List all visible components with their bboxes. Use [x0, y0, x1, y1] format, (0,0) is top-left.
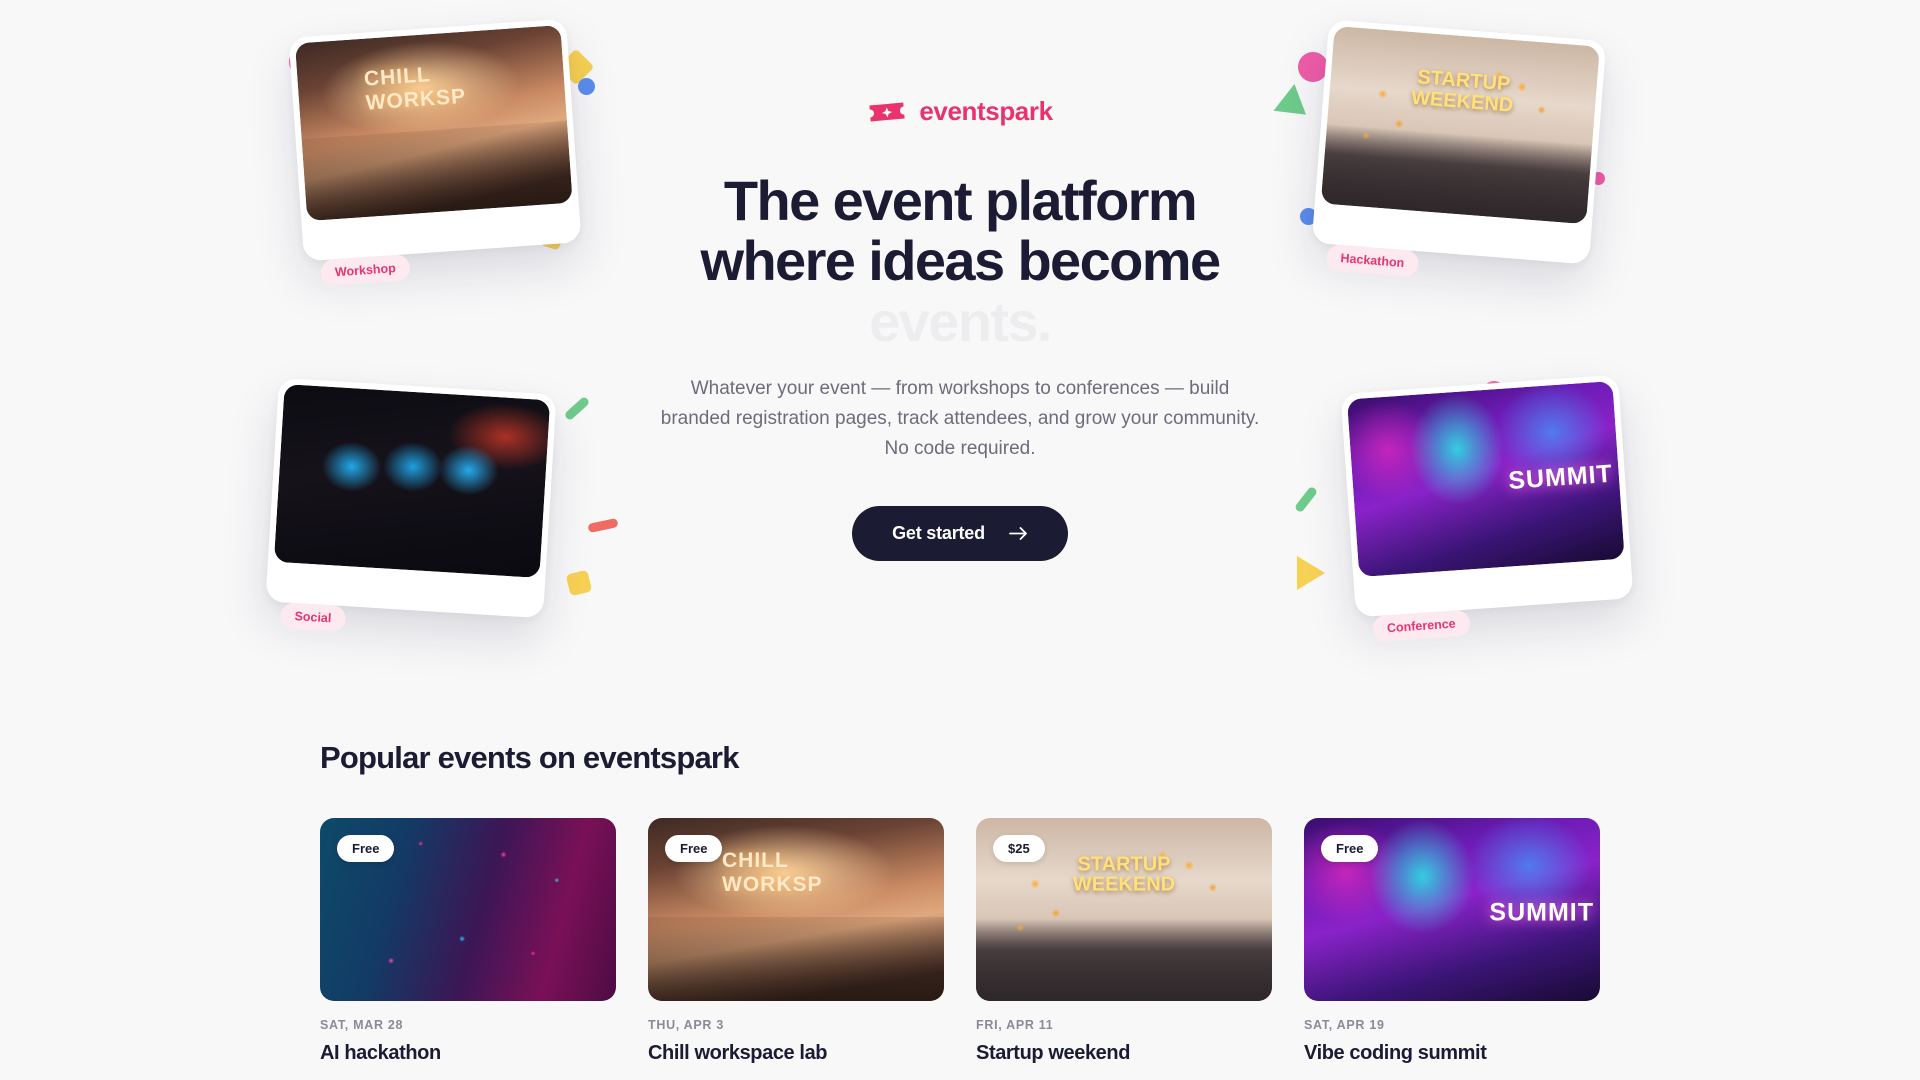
yellow-triangle-right-icon — [1297, 556, 1325, 590]
event-date: SAT, APR 19 — [1304, 1018, 1600, 1032]
page-title: The event platform where ideas become ev… — [650, 171, 1270, 352]
event-price-badge: Free — [665, 835, 722, 862]
event-card-ai-hackathon[interactable]: Free SAT, MAR 28 AI hackathon — [320, 818, 616, 1066]
headline-line-2: where ideas become — [650, 231, 1270, 291]
get-started-button[interactable]: Get started — [852, 506, 1068, 561]
blue-circle-top-left-icon — [578, 78, 595, 95]
event-title: Vibe coding summit — [1304, 1041, 1600, 1066]
green-bar-mid-icon — [564, 396, 591, 421]
brand-logo[interactable]: eventspark — [650, 96, 1270, 127]
event-date: SAT, MAR 28 — [320, 1018, 616, 1032]
floating-card-social-badge: Social — [280, 602, 346, 632]
event-card-image: Free — [648, 818, 944, 1001]
floating-card-social[interactable]: Social — [265, 378, 556, 619]
floating-card-conference-badge: Conference — [1372, 610, 1470, 643]
event-price-badge: Free — [337, 835, 394, 862]
event-card-image: Free — [1304, 818, 1600, 1001]
event-date: THU, APR 3 — [648, 1018, 944, 1032]
event-card-image: Free — [320, 818, 616, 1001]
floating-card-workshop-image — [295, 25, 573, 221]
event-title: Chill workspace lab — [648, 1041, 944, 1066]
arrow-right-icon — [1009, 526, 1028, 541]
popular-events-title: Popular events on eventspark — [320, 740, 1600, 776]
hero-content: eventspark The event platform where idea… — [650, 96, 1270, 561]
floating-card-hackathon-image — [1321, 26, 1600, 224]
floating-card-conference-image — [1347, 381, 1625, 577]
event-grid: Free SAT, MAR 28 AI hackathon Free THU, … — [320, 818, 1600, 1066]
hero-subheadline: Whatever your event — from workshops to … — [650, 374, 1270, 464]
floating-card-workshop-badge: Workshop — [320, 254, 410, 286]
event-date: FRI, APR 11 — [976, 1018, 1272, 1032]
headline-line-1: The event platform — [650, 171, 1270, 231]
floating-card-hackathon-badge: Hackathon — [1326, 244, 1420, 277]
popular-events-container: Popular events on eventspark Free SAT, M… — [320, 740, 1600, 1066]
event-title: AI hackathon — [320, 1041, 616, 1066]
headline-line-3: events. — [650, 292, 1270, 352]
popular-events-section: Popular events on eventspark Free SAT, M… — [0, 740, 1920, 1066]
hero-section: Workshop Hackathon Social Conference eve… — [0, 0, 1920, 740]
event-card-image: $25 — [976, 818, 1272, 1001]
floating-card-hackathon[interactable]: Hackathon — [1312, 19, 1607, 264]
green-triangle-top-right-icon — [1274, 84, 1317, 128]
pink-circle-top-right-icon — [1298, 52, 1328, 82]
floating-card-social-image — [274, 384, 550, 578]
ticket-sparkle-icon — [867, 99, 907, 125]
event-card-vibe-summit[interactable]: Free SAT, APR 19 Vibe coding summit — [1304, 818, 1600, 1066]
hero-cta-wrapper: Get started — [650, 506, 1270, 561]
brand-name: eventspark — [919, 96, 1052, 127]
floating-card-workshop[interactable]: Workshop — [289, 19, 582, 262]
event-price-badge: $25 — [993, 835, 1045, 862]
event-title: Startup weekend — [976, 1041, 1272, 1066]
floating-card-conference[interactable]: Conference — [1341, 375, 1634, 618]
event-price-badge: Free — [1321, 835, 1378, 862]
get-started-label: Get started — [892, 523, 985, 544]
red-bar-mid-icon — [587, 518, 618, 533]
event-card-startup-weekend[interactable]: $25 FRI, APR 11 Startup weekend — [976, 818, 1272, 1066]
event-card-chill-workspace[interactable]: Free THU, APR 3 Chill workspace lab — [648, 818, 944, 1066]
yellow-square-mid-icon — [566, 570, 593, 597]
green-bar-right-icon — [1294, 486, 1318, 514]
